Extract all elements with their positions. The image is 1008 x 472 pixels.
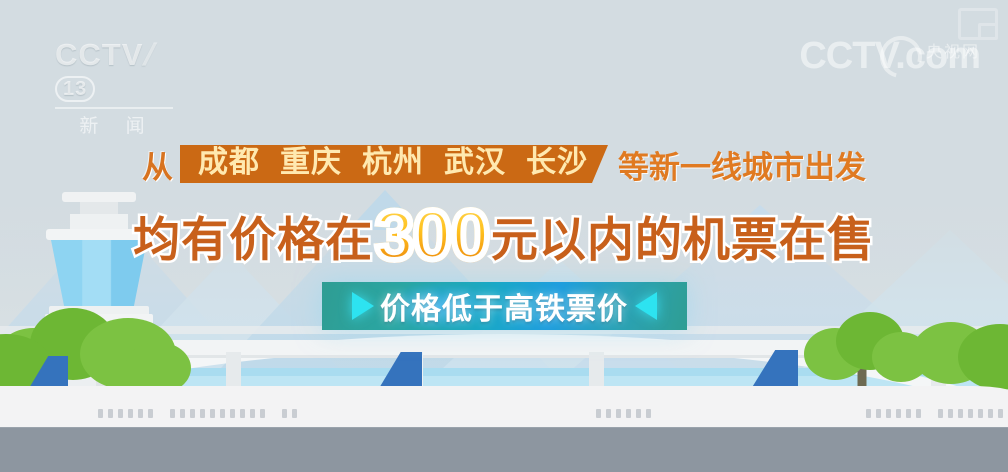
channel-name: 新 闻 xyxy=(55,111,180,138)
channel-logo-row: CCTV/13 xyxy=(55,38,180,106)
price-number: 300 xyxy=(375,206,489,264)
headline-line-3: 价格低于高铁票价 xyxy=(0,280,1008,332)
headline-suffix: 等新一线城市出发 xyxy=(618,142,866,187)
cctv-wordmark: CCTV xyxy=(55,37,143,72)
city-chip: 长沙 xyxy=(526,148,588,178)
site-watermark-cn: 央视网 xyxy=(926,38,980,62)
window-watermark-icon xyxy=(958,8,998,40)
city-band: 成都 重庆 杭州 武汉 长沙 xyxy=(180,145,608,183)
headline-line-2: 均有价格在 300 元以内的机票在售 xyxy=(0,200,1008,270)
city-chip: 重庆 xyxy=(280,148,342,178)
city-chip: 成都 xyxy=(198,148,260,178)
city-chip: 武汉 xyxy=(444,148,506,178)
channel-logo: CCTV/13 新 闻 xyxy=(55,38,180,96)
logo-divider xyxy=(55,107,173,109)
site-watermark: 央视网 CCTV.com xyxy=(799,36,980,88)
arrow-left-icon xyxy=(635,292,657,320)
headline-prefix: 从 xyxy=(142,142,173,187)
runway-tarmac xyxy=(0,428,1008,472)
broadcast-graphic-frame: CCTV/13 新 闻 央视网 CCTV.com 从 成都 重庆 杭州 武汉 长… xyxy=(0,0,1008,472)
headline-before-number: 均有价格在 xyxy=(133,201,373,270)
headline-after-number: 元以内的机票在售 xyxy=(491,201,875,270)
comparison-text: 价格低于高铁票价 xyxy=(380,284,628,328)
headline-block: 从 成都 重庆 杭州 武汉 长沙 等新一线城市出发 均有价格在 300 元以内的… xyxy=(0,140,1008,332)
channel-number: 13 xyxy=(55,76,95,102)
arrow-right-icon xyxy=(352,292,374,320)
city-chip: 杭州 xyxy=(362,148,424,178)
comparison-callout: 价格低于高铁票价 xyxy=(322,282,687,330)
headline-line-1: 从 成都 重庆 杭州 武汉 长沙 等新一线城市出发 xyxy=(0,140,1008,188)
